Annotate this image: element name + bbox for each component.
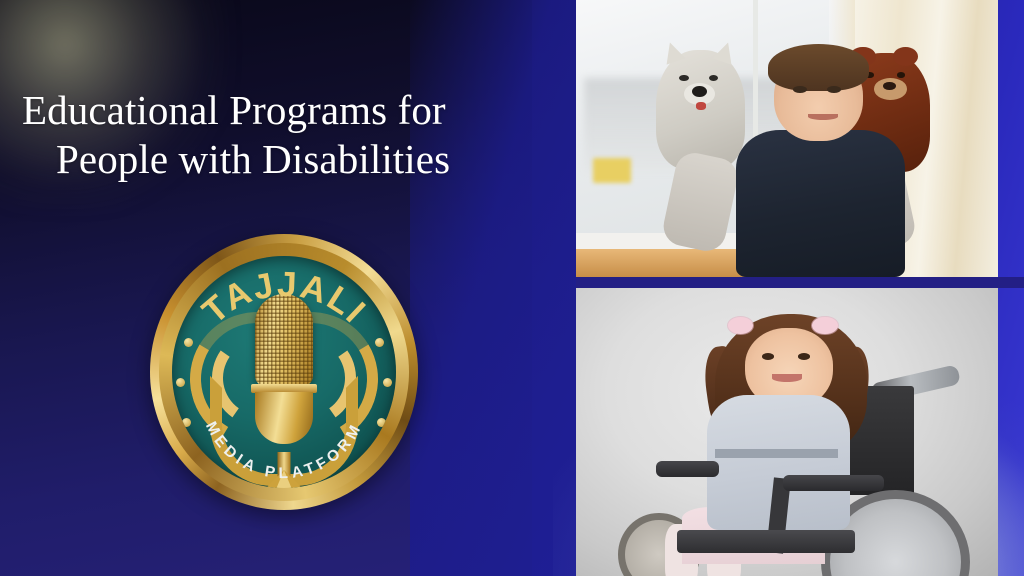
girl-eye-right — [798, 353, 811, 360]
photo-divider — [576, 277, 1024, 288]
window-yellow-bus — [593, 158, 631, 183]
logo-dot — [375, 338, 384, 347]
photo-girl-in-wheelchair — [576, 288, 998, 576]
wolf-eye-left — [679, 75, 688, 81]
wheelchair-armrest-right — [783, 475, 884, 491]
boy-eye-right — [827, 86, 841, 93]
photo-boy-with-puppets — [576, 0, 998, 277]
logo-dot — [184, 338, 193, 347]
wolf-nose — [692, 86, 707, 97]
logo-teal-field — [172, 256, 396, 488]
microphone-head-icon — [255, 294, 313, 386]
boy-hair — [768, 44, 869, 91]
wolf-tongue — [696, 102, 706, 109]
headline-line-2: People with Disabilities — [22, 135, 552, 184]
boy-torso — [736, 130, 905, 277]
microphone-base-highlight — [264, 470, 304, 488]
girl-smile — [772, 374, 802, 381]
wheelchair-armrest-left — [656, 461, 719, 477]
logo-dot — [377, 418, 386, 427]
girl-dress-belt — [715, 449, 837, 458]
slide-canvas: Educational Programs for People with Dis… — [0, 0, 1024, 576]
wheelchair-seat — [677, 530, 854, 553]
wolf-eye-right — [709, 75, 718, 81]
headline-line-1: Educational Programs for — [22, 87, 446, 133]
logo-dot — [176, 378, 185, 387]
tajjali-logo: TAJJALI MEDIA PLATFORM — [150, 234, 418, 510]
logo-dot — [383, 378, 392, 387]
logo-dot — [182, 418, 191, 427]
page-title: Educational Programs for People with Dis… — [22, 86, 552, 184]
bear-eye-right — [897, 72, 905, 78]
girl-eye-left — [762, 353, 775, 360]
girl-hair-bow-right — [812, 317, 837, 334]
microphone-body — [255, 392, 313, 444]
bear-nose — [883, 82, 896, 90]
